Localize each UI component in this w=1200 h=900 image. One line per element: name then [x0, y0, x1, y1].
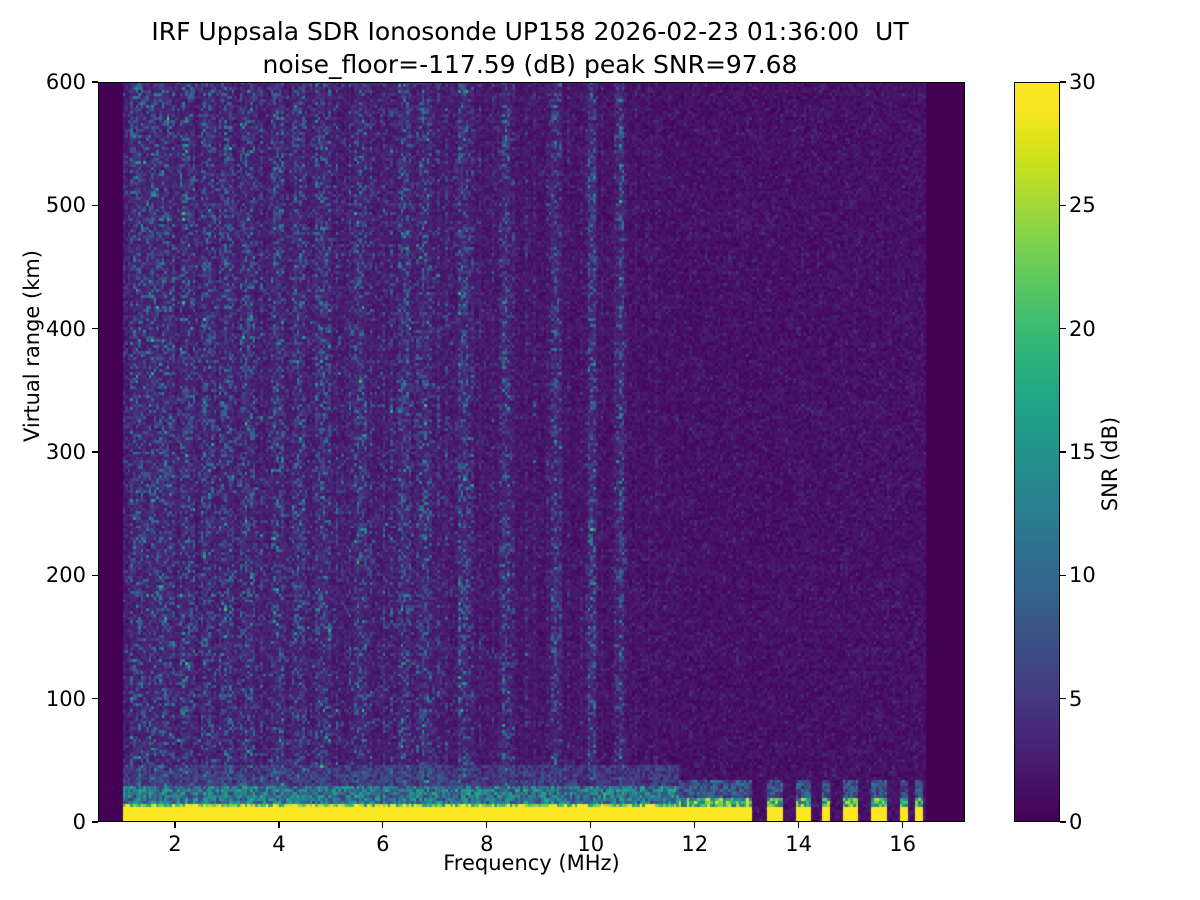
y-axis-tick-mark: [92, 575, 98, 576]
y-axis-tick-label: 0: [6, 810, 86, 834]
x-axis-tick-label: 14: [769, 832, 829, 856]
colorbar-tick-mark: [1060, 451, 1066, 452]
colorbar-tick-mark: [1060, 821, 1066, 822]
x-axis-tick-mark: [382, 822, 383, 828]
y-axis-tick-mark: [92, 698, 98, 699]
x-axis-tick-label: 2: [145, 832, 205, 856]
x-axis-label: Frequency (MHz): [98, 851, 965, 875]
y-axis-tick-label: 600: [6, 70, 86, 94]
colorbar-tick-label: 0: [1069, 810, 1082, 834]
x-axis-tick-label: 4: [249, 832, 309, 856]
colorbar-tick-label: 15: [1069, 440, 1096, 464]
y-axis-label: Virtual range (km): [20, 46, 44, 646]
colorbar-tick-label: 5: [1069, 687, 1082, 711]
colorbar-label: SNR (dB): [1098, 164, 1122, 764]
colorbar-gradient: [1015, 83, 1060, 822]
colorbar-tick-mark: [1060, 328, 1066, 329]
colorbar-tick-mark: [1060, 698, 1066, 699]
x-axis-tick-mark: [590, 822, 591, 828]
x-axis-tick-label: 10: [561, 832, 621, 856]
ionogram-heatmap: [99, 83, 965, 822]
x-axis-tick-label: 16: [873, 832, 933, 856]
ionogram-figure: IRF Uppsala SDR Ionosonde UP158 2026-02-…: [0, 0, 1200, 900]
ionogram-plot-area[interactable]: [98, 82, 965, 822]
x-axis-tick-mark: [694, 822, 695, 828]
y-axis-tick-label: 500: [6, 193, 86, 217]
y-axis-tick-label: 100: [6, 687, 86, 711]
colorbar[interactable]: [1014, 82, 1060, 822]
colorbar-tick-mark: [1060, 575, 1066, 576]
x-axis-tick-mark: [278, 822, 279, 828]
x-axis-tick-label: 12: [665, 832, 725, 856]
y-axis-tick-mark: [92, 821, 98, 822]
colorbar-tick-label: 25: [1069, 193, 1096, 217]
y-axis-tick-label: 300: [6, 440, 86, 464]
x-axis-tick-mark: [798, 822, 799, 828]
y-axis-tick-mark: [92, 205, 98, 206]
colorbar-tick-label: 30: [1069, 70, 1096, 94]
colorbar-tick-mark: [1060, 205, 1066, 206]
y-axis-tick-label: 400: [6, 317, 86, 341]
y-axis-tick-mark: [92, 451, 98, 452]
title-line-secondary: noise_floor=-117.59 (dB) peak SNR=97.68: [0, 49, 1060, 82]
y-axis-tick-label: 200: [6, 563, 86, 587]
y-axis-tick-mark: [92, 328, 98, 329]
x-axis-tick-label: 8: [457, 832, 517, 856]
title-line-primary: IRF Uppsala SDR Ionosonde UP158 2026-02-…: [0, 16, 1060, 49]
colorbar-tick-label: 20: [1069, 317, 1096, 341]
x-axis-tick-mark: [486, 822, 487, 828]
y-axis-tick-mark: [92, 81, 98, 82]
x-axis-tick-mark: [902, 822, 903, 828]
figure-title: IRF Uppsala SDR Ionosonde UP158 2026-02-…: [0, 16, 1060, 81]
colorbar-tick-mark: [1060, 81, 1066, 82]
colorbar-tick-label: 10: [1069, 563, 1096, 587]
x-axis-tick-label: 6: [353, 832, 413, 856]
x-axis-tick-mark: [174, 822, 175, 828]
